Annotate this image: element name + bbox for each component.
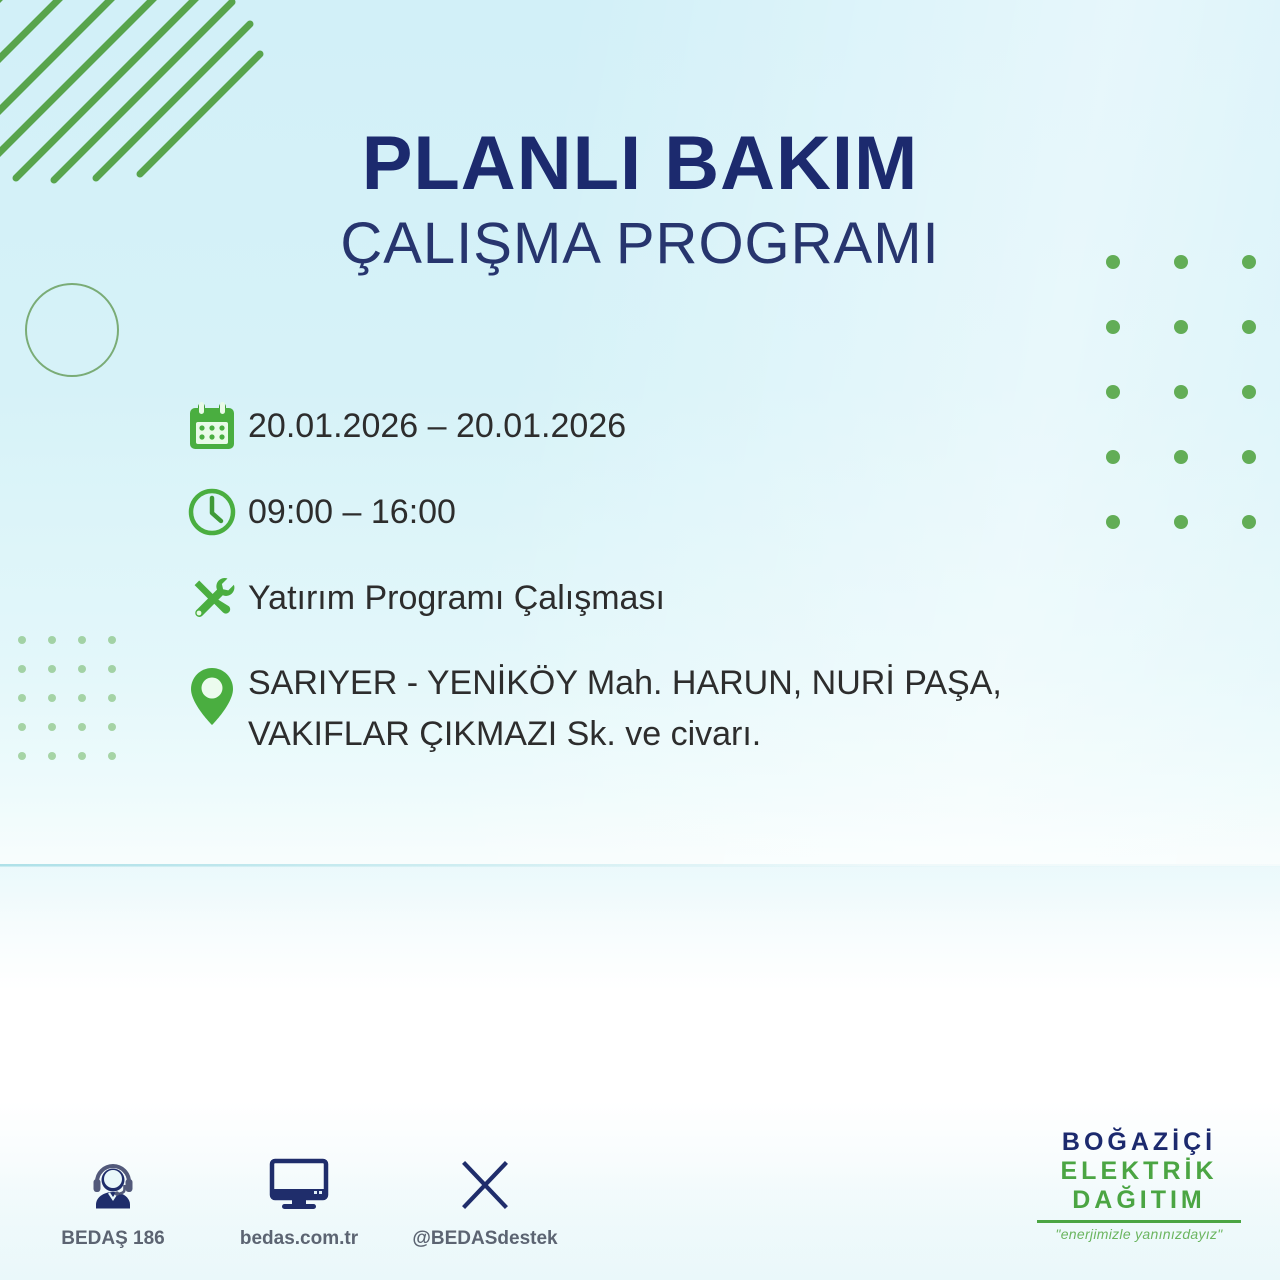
contact-x[interactable]: @BEDASdestek [424,1148,546,1250]
contact-phone[interactable]: BEDAŞ 186 [52,1148,174,1250]
time-range-text: 09:00 – 16:00 [248,484,456,536]
logo-tagline: "enerjimizle yanınızdayız" [1033,1226,1245,1242]
calendar-icon [176,398,248,452]
logo-divider [1037,1220,1241,1223]
location-text: SARIYER - YENİKÖY Mah. HARUN, NURİ PAŞA,… [248,654,1148,760]
contact-website-label: bedas.com.tr [240,1228,358,1250]
footer: BEDAŞ 186 bedas.com.tr [0,1140,1280,1280]
contact-phone-label: BEDAŞ 186 [61,1228,165,1250]
work-type-text: Yatırım Programı Çalışması [248,570,665,622]
x-twitter-icon [456,1148,514,1222]
contact-x-label: @BEDASdestek [412,1228,557,1250]
monitor-icon [268,1148,330,1222]
date-range-text: 20.01.2026 – 20.01.2026 [248,398,626,450]
detail-row-location: SARIYER - YENİKÖY Mah. HARUN, NURİ PAŞA,… [176,654,1176,760]
tools-icon [176,570,248,624]
logo-line-dagitim: DAĞITIM [1033,1186,1245,1215]
location-pin-icon [176,654,248,728]
logo-line-bogazici: BOĞAZİÇİ [1033,1128,1245,1157]
contact-website[interactable]: bedas.com.tr [238,1148,360,1250]
maintenance-details: 20.01.2026 – 20.01.2026 09:00 – 16:00 [176,398,1176,787]
support-agent-icon [83,1148,143,1222]
company-logo: BOĞAZİÇİ ELEKTRİK DAĞITIM "enerjimizle y… [1033,1128,1245,1242]
circle-decoration [25,283,119,377]
detail-row-time: 09:00 – 16:00 [176,484,1176,538]
dot-grid-left-decoration [18,636,138,781]
title-secondary: ÇALIŞMA PROGRAMI [0,214,1280,275]
detail-row-work-type: Yatırım Programı Çalışması [176,570,1176,624]
poster-canvas: PLANLI BAKIM ÇALIŞMA PROGRAMI [0,0,1280,1280]
page-title: PLANLI BAKIM ÇALIŞMA PROGRAMI [0,126,1280,275]
contact-channels: BEDAŞ 186 bedas.com.tr [52,1148,546,1250]
clock-icon [176,484,248,538]
logo-line-elektrik: ELEKTRİK [1033,1157,1245,1186]
detail-row-date: 20.01.2026 – 20.01.2026 [176,398,1176,452]
title-primary: PLANLI BAKIM [0,126,1280,202]
